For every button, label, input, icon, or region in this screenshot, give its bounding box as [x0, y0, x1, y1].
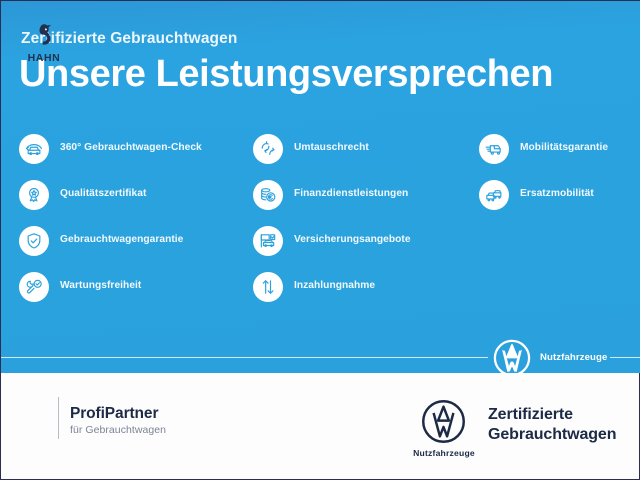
feature-label: Wartungsfreiheit	[60, 280, 141, 291]
profipartner-subtitle: für Gebrauchtwagen	[70, 424, 166, 436]
feature-label: Inzahlungnahme	[294, 280, 375, 291]
footer-brand-title: Zertifizierte Gebrauchtwagen	[488, 405, 616, 444]
footer-brand-sublabel: Nutzfahrzeuge	[403, 448, 485, 458]
feature-column-3: Mobilitätsgarantie Ersatzmobilitä	[479, 134, 640, 226]
footer-title-line-2: Gebrauchtwagen	[488, 425, 616, 445]
coins-euro-icon	[253, 180, 283, 210]
feature-item[interactable]: Ersatzmobilität	[479, 180, 640, 226]
footer-divider	[58, 397, 59, 439]
volkswagen-logo-footer	[421, 399, 466, 444]
feature-label: Finanzdienstleistungen	[294, 188, 408, 199]
insurance-document-car-icon	[253, 226, 283, 256]
quality-seal-icon	[19, 180, 49, 210]
feature-item[interactable]: Qualitätszertifikat	[19, 180, 251, 226]
rooster-icon	[31, 23, 57, 51]
profipartner-block: ProfiPartner für Gebrauchtwagen	[70, 405, 166, 436]
feature-item[interactable]: Wartungsfreiheit	[19, 272, 251, 318]
feature-item[interactable]: Umtauschrecht	[253, 134, 477, 180]
feature-label: Gebrauchtwagengarantie	[60, 234, 183, 245]
hero-brand-label: Nutzfahrzeuge	[540, 352, 607, 363]
volkswagen-logo	[493, 339, 531, 373]
feature-item[interactable]: Inzahlungnahme	[253, 272, 477, 318]
up-down-arrows-icon	[253, 272, 283, 302]
hero-divider-right	[610, 357, 640, 358]
feature-column-2: Umtauschrecht Fina	[253, 134, 477, 318]
feature-label: Ersatzmobilität	[520, 188, 594, 199]
shield-check-icon	[19, 226, 49, 256]
feature-label: Versicherungsangebote	[294, 234, 411, 245]
hahn-rooster-logo: HAHN	[19, 23, 69, 71]
feature-label: 360° Gebrauchtwagen-Check	[60, 142, 202, 153]
hero-divider-left	[1, 357, 488, 358]
feature-label: Qualitätszertifikat	[60, 188, 146, 199]
footer-title-line-1: Zertifizierte	[488, 405, 616, 425]
promo-poster: Zertifizierte Gebrauchtwagen Unsere Leis…	[0, 0, 640, 480]
exchange-arrows-icon	[253, 134, 283, 164]
replacement-cars-icon	[479, 180, 509, 210]
profipartner-title: ProfiPartner	[70, 405, 166, 423]
feature-item[interactable]: 360° Gebrauchtwagen-Check	[19, 134, 251, 180]
feature-item[interactable]: Mobilitätsgarantie	[479, 134, 640, 180]
hero-section: Zertifizierte Gebrauchtwagen Unsere Leis…	[1, 1, 640, 373]
feature-column-1: 360° Gebrauchtwagen-Check Qualitätszerti…	[19, 134, 251, 318]
page-title: Unsere Leistungsversprechen	[19, 55, 553, 94]
wrench-check-icon	[19, 272, 49, 302]
feature-item[interactable]: Versicherungsangebote	[253, 226, 477, 272]
feature-item[interactable]: Finanzdienstleistungen	[253, 180, 477, 226]
van-mobility-icon	[479, 134, 509, 164]
feature-label: Umtauschrecht	[294, 142, 369, 153]
feature-item[interactable]: Gebrauchtwagengarantie	[19, 226, 251, 272]
car-check-360-icon	[19, 134, 49, 164]
hahn-wordmark: HAHN	[19, 52, 69, 64]
feature-label: Mobilitätsgarantie	[520, 142, 608, 153]
